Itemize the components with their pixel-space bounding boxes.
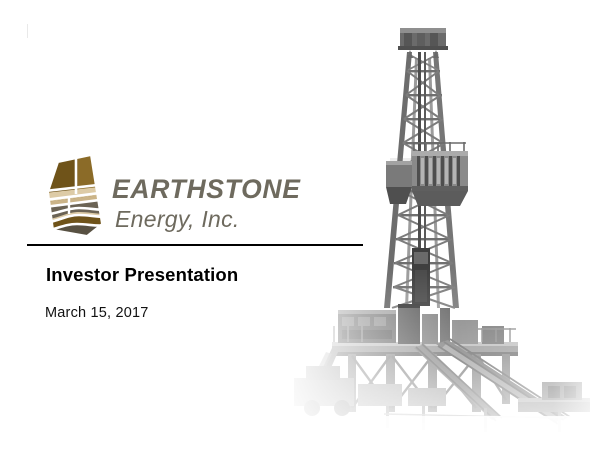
wordmark-secondary: Energy, Inc. [115,208,324,231]
wordmark-primary: EARTHSTONE [112,176,324,203]
title-rule [27,244,363,246]
earthstone-logo: EARTHSTONE Energy, Inc. [45,152,325,242]
earthstone-strata-mark-icon [45,152,107,240]
drilling-rig-photo [286,8,600,456]
corner-tick-mark [27,24,28,38]
slide-date: March 15, 2017 [45,305,149,321]
logo-wordmark: EARTHSTONE Energy, Inc. [112,176,324,231]
page-title: Investor Presentation [46,264,238,286]
title-slide: EARTHSTONE Energy, Inc. Investor Present… [0,0,600,464]
